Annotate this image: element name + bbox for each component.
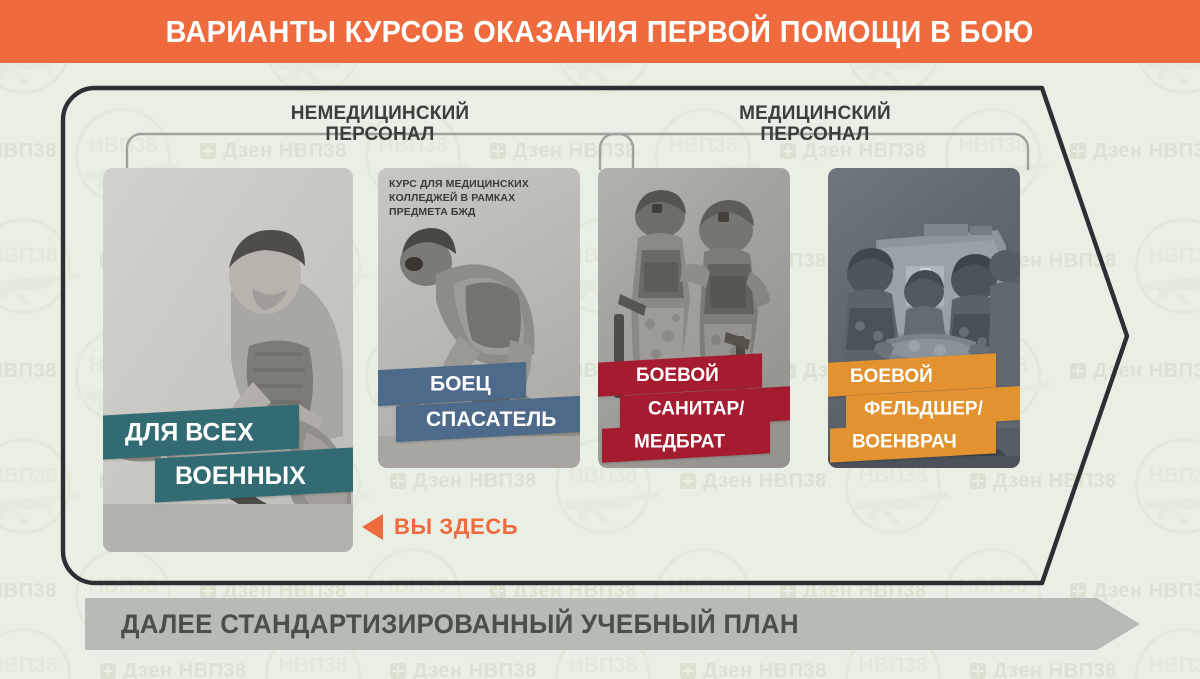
card-combat-physician[interactable]: БОЕВОЙ ФЕЛЬДШЕР/ ВОЕНВРАЧ (828, 168, 1020, 468)
card-for-all-military[interactable]: ДЛЯ ВСЕХ ВОЕННЫХ (103, 168, 353, 552)
page-title: ВАРИАНТЫ КУРСОВ ОКАЗАНИЯ ПЕРВОЙ ПОМОЩИ В… (166, 14, 1034, 50)
ribbon-group-combat-physician: БОЕВОЙ ФЕЛЬДШЕР/ ВОЕНВРАЧ (828, 358, 1020, 458)
ribbon-group-for-all-military: ДЛЯ ВСЕХ ВОЕННЫХ (103, 410, 353, 497)
watermark-badge: НВП38 (0, 628, 71, 679)
ribbon-line-1-text: ДЛЯ ВСЕХ (125, 420, 254, 445)
watermark-brand-label: Дзен НВП38 (123, 660, 247, 679)
ribbon-group-combat-medic: БОЕВОЙ САНИТАР/ МЕДБРАТ (598, 358, 790, 458)
watermark-brand-label: Дзен НВП38 (703, 660, 827, 679)
watermark-plus-icon (390, 663, 406, 679)
ribbon-line-2-text: ФЕЛЬДШЕР/ (864, 399, 983, 418)
watermark-badge-label: НВП38 (0, 654, 71, 678)
ribbon-line-2: ВОЕННЫХ (155, 447, 353, 502)
ribbon-line-2-text: ВОЕННЫХ (175, 463, 306, 488)
group-label-medical-line1: МЕДИЦИНСКИЙ (640, 103, 990, 124)
watermark-badge-ring (1135, 628, 1200, 679)
watermark-brand-label: Дзен НВП38 (413, 660, 537, 679)
card-subtitle-fighter-rescuer: КУРС ДЛЯ МЕДИЦИНСКИХ КОЛЛЕДЖЕЙ В РАМКАХ … (389, 177, 572, 219)
ribbon-line-2-text: САНИТАР/ (648, 399, 744, 418)
watermark-text: Дзен НВП38 (390, 660, 537, 679)
header-banner: ВАРИАНТЫ КУРСОВ ОКАЗАНИЯ ПЕРВОЙ ПОМОЩИ В… (0, 0, 1200, 63)
ribbon-line-1-text: БОЕЦ (430, 373, 491, 394)
watermark-text: Дзен НВП38 (970, 660, 1117, 679)
watermark-badge-label: НВП38 (555, 654, 651, 678)
group-label-non-medical-line1: НЕМЕДИЦИНСКИЙ (205, 103, 555, 124)
watermark-plus-icon (100, 663, 116, 679)
ribbon-line-3-text: МЕДБРАТ (634, 432, 725, 451)
bottom-arrow-banner: ДАЛЕЕ СТАНДАРТИЗИРОВАННЫЙ УЧЕБНЫЙ ПЛАН (85, 598, 1140, 650)
watermark-text: Дзен НВП38 (680, 660, 827, 679)
you-are-here-indicator: ВЫ ЗДЕСЬ (362, 514, 518, 540)
group-label-medical-line2: ПЕРСОНАЛ (640, 124, 990, 145)
watermark-plus-icon (970, 663, 986, 679)
ribbon-line-2-text: СПАСАТЕЛЬ (426, 408, 556, 429)
card-combat-medic[interactable]: БОЕВОЙ САНИТАР/ МЕДБРАТ (598, 168, 790, 468)
bottom-arrow-label: ДАЛЕЕ СТАНДАРТИЗИРОВАННЫЙ УЧЕБНЫЙ ПЛАН (121, 598, 799, 650)
watermark-badge-label: НВП38 (845, 654, 941, 678)
watermark-plus-icon (680, 663, 696, 679)
watermark-badge-label: НВП38 (1135, 654, 1200, 678)
watermark-badge-label: НВП38 (265, 654, 361, 678)
watermark-text: Дзен НВП38 (100, 660, 247, 679)
group-label-non-medical: НЕМЕДИЦИНСКИЙ ПЕРСОНАЛ (205, 103, 555, 146)
infographic-root: Дзен НВП38НВП38Дзен НВП38НВП38Дзен НВП38… (0, 0, 1200, 679)
left-arrow-icon (362, 514, 383, 540)
ribbon-line-1-text: БОЕВОЙ (850, 367, 933, 386)
group-label-medical: МЕДИЦИНСКИЙ ПЕРСОНАЛ (640, 103, 990, 146)
watermark-badge: НВП38 (1135, 628, 1200, 679)
group-label-non-medical-line2: ПЕРСОНАЛ (205, 124, 555, 145)
you-are-here-label: ВЫ ЗДЕСЬ (394, 514, 518, 540)
ribbon-line-1-text: БОЕВОЙ (636, 366, 719, 385)
watermark-badge-ring (0, 628, 71, 679)
ribbon-line-3-text: ВОЕНВРАЧ (852, 432, 957, 451)
watermark-brand-label: Дзен НВП38 (993, 660, 1117, 679)
card-fighter-rescuer[interactable]: КУРС ДЛЯ МЕДИЦИНСКИХ КОЛЛЕДЖЕЙ В РАМКАХ … (378, 168, 580, 468)
ribbon-group-fighter-rescuer: БОЕЦ СПАСАТЕЛЬ (378, 366, 580, 437)
